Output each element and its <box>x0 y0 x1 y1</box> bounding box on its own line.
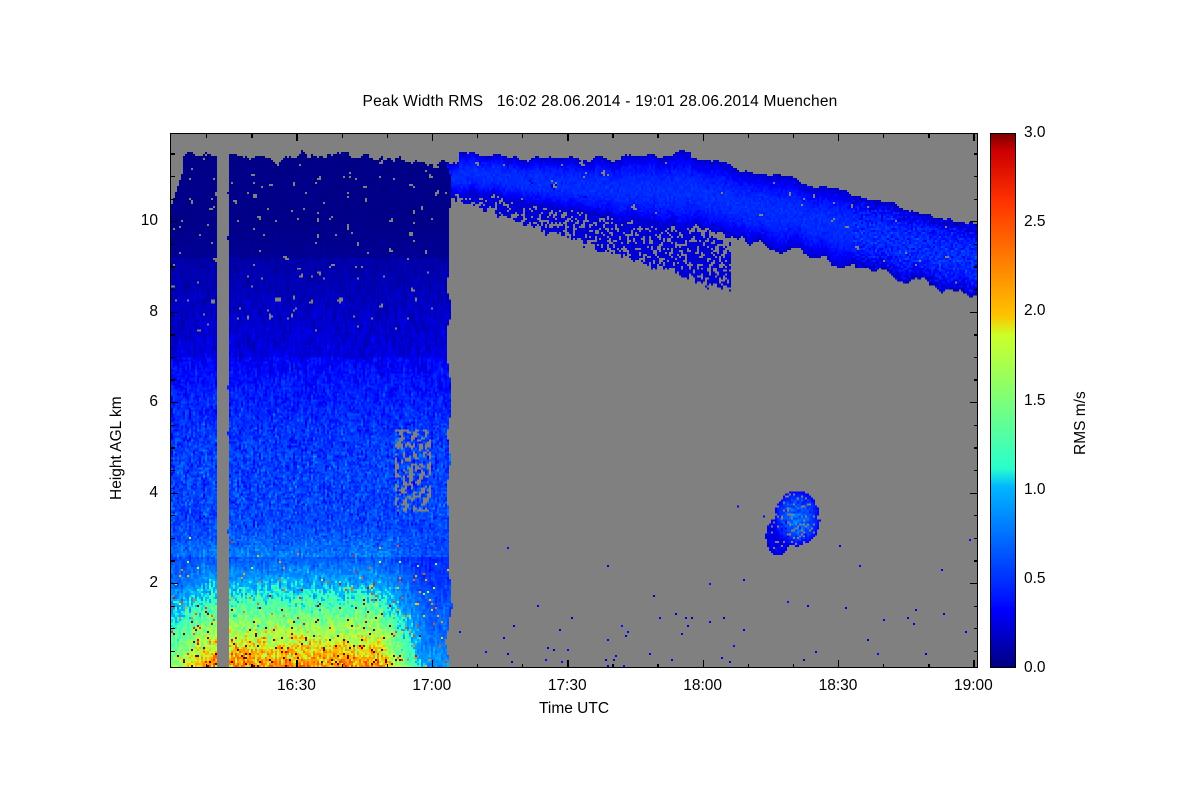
colorbar-label: RMS m/s <box>1072 391 1090 455</box>
y-tick-major <box>170 221 178 222</box>
x-tick-minor <box>612 664 613 669</box>
colorbar-tick-label: 0.0 <box>1024 659 1046 677</box>
x-tick-minor <box>206 664 207 669</box>
y-tick-minor <box>170 289 175 290</box>
y-tick-major-right <box>970 221 978 222</box>
y-tick-label: 6 <box>124 393 158 411</box>
y-tick-minor <box>170 199 175 200</box>
colorbar-gradient <box>991 134 1016 668</box>
y-tick-major-right <box>970 402 978 403</box>
y-tick-minor <box>170 266 175 267</box>
x-tick-major <box>838 660 839 668</box>
y-tick-minor <box>170 153 175 154</box>
y-tick-minor <box>170 244 175 245</box>
colorbar-tick-label: 2.5 <box>1024 213 1046 231</box>
x-tick-minor-top <box>342 133 343 138</box>
x-tick-minor-top <box>251 133 252 138</box>
lidar-rms-field <box>171 134 978 668</box>
colorbar-tick-label: 2.0 <box>1024 302 1046 320</box>
y-tick-minor <box>170 334 175 335</box>
y-tick-label: 10 <box>124 212 158 230</box>
x-tick-minor-top <box>793 133 794 138</box>
colorbar-tick-label: 3.0 <box>1024 124 1046 142</box>
y-tick-minor-right <box>974 447 979 448</box>
x-tick-minor <box>657 664 658 669</box>
y-tick-minor-right <box>974 515 979 516</box>
x-tick-minor <box>793 664 794 669</box>
y-tick-major-right <box>970 583 978 584</box>
colorbar[interactable] <box>990 133 1016 668</box>
y-tick-minor <box>170 538 175 539</box>
y-tick-major <box>170 312 178 313</box>
x-tick-minor-top <box>928 133 929 138</box>
x-tick-major-top <box>296 133 297 141</box>
x-tick-major-top <box>432 133 433 141</box>
y-tick-minor-right <box>974 606 979 607</box>
y-tick-minor-right <box>974 199 979 200</box>
y-tick-minor-right <box>974 379 979 380</box>
y-tick-minor-right <box>974 244 979 245</box>
y-tick-minor-right <box>974 560 979 561</box>
x-tick-minor-top <box>748 133 749 138</box>
y-tick-minor-right <box>974 425 979 426</box>
x-tick-minor <box>883 664 884 669</box>
y-tick-major-right <box>970 312 978 313</box>
x-tick-minor <box>928 664 929 669</box>
x-tick-minor-top <box>657 133 658 138</box>
y-axis-label: Height AGL km <box>108 396 126 500</box>
colorbar-tick-label: 0.5 <box>1024 570 1046 588</box>
x-tick-major-top <box>703 133 704 141</box>
y-tick-major <box>170 583 178 584</box>
y-tick-minor-right <box>974 176 979 177</box>
x-tick-minor <box>477 664 478 669</box>
y-tick-minor-right <box>974 357 979 358</box>
x-tick-minor-top <box>522 133 523 138</box>
y-tick-minor <box>170 560 175 561</box>
x-tick-major-top <box>567 133 568 141</box>
y-tick-minor <box>170 425 175 426</box>
x-axis-label: Time UTC <box>170 700 978 718</box>
x-tick-minor <box>387 664 388 669</box>
y-tick-label: 8 <box>124 303 158 321</box>
y-tick-minor-right <box>974 628 979 629</box>
colorbar-tick-label: 1.0 <box>1024 481 1046 499</box>
y-tick-major <box>170 402 178 403</box>
y-tick-minor-right <box>974 289 979 290</box>
x-tick-major <box>432 660 433 668</box>
x-tick-minor <box>342 664 343 669</box>
x-tick-major <box>973 660 974 668</box>
y-tick-major-right <box>970 493 978 494</box>
x-tick-minor-top <box>477 133 478 138</box>
x-tick-major <box>703 660 704 668</box>
y-tick-minor-right <box>974 334 979 335</box>
y-tick-minor <box>170 357 175 358</box>
x-tick-major-top <box>838 133 839 141</box>
y-tick-label: 4 <box>124 484 158 502</box>
x-tick-minor-top <box>612 133 613 138</box>
page-title: Peak Width RMS 16:02 28.06.2014 - 19:01 … <box>0 93 1200 111</box>
x-tick-label: 18:00 <box>683 677 722 695</box>
y-tick-minor <box>170 651 175 652</box>
figure-canvas: Peak Width RMS 16:02 28.06.2014 - 19:01 … <box>0 0 1200 800</box>
x-tick-major-top <box>973 133 974 141</box>
y-tick-minor-right <box>974 153 979 154</box>
x-tick-label: 16:30 <box>277 677 316 695</box>
y-tick-minor <box>170 628 175 629</box>
y-tick-label: 2 <box>124 574 158 592</box>
x-tick-minor-top <box>883 133 884 138</box>
y-tick-minor-right <box>974 538 979 539</box>
y-tick-minor <box>170 606 175 607</box>
x-tick-label: 18:30 <box>819 677 858 695</box>
y-tick-minor-right <box>974 470 979 471</box>
x-tick-minor <box>251 664 252 669</box>
x-tick-minor-top <box>206 133 207 138</box>
x-tick-major <box>296 660 297 668</box>
x-tick-minor-top <box>387 133 388 138</box>
x-tick-label: 19:00 <box>954 677 993 695</box>
heatmap-axes[interactable] <box>170 133 978 668</box>
y-tick-minor-right <box>974 651 979 652</box>
x-tick-major <box>567 660 568 668</box>
colorbar-tick-label: 1.5 <box>1024 392 1046 410</box>
y-tick-minor <box>170 379 175 380</box>
x-tick-minor <box>522 664 523 669</box>
y-tick-minor <box>170 515 175 516</box>
x-tick-minor <box>748 664 749 669</box>
y-tick-major <box>170 493 178 494</box>
x-tick-label: 17:30 <box>548 677 587 695</box>
y-tick-minor-right <box>974 266 979 267</box>
y-tick-minor <box>170 447 175 448</box>
x-tick-label: 17:00 <box>412 677 451 695</box>
y-tick-minor <box>170 470 175 471</box>
y-tick-minor <box>170 176 175 177</box>
